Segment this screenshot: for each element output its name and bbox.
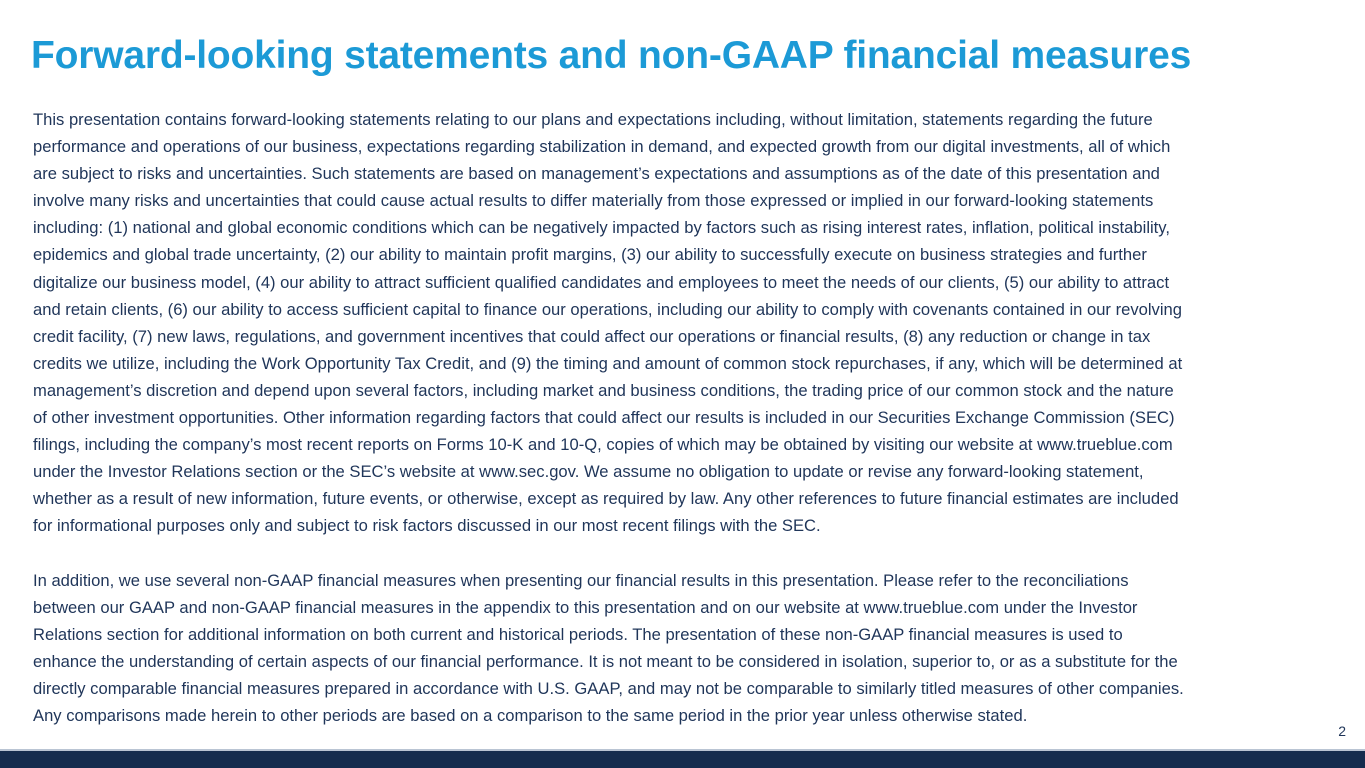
text-line: Relations section for additional informa… (33, 621, 1335, 648)
text-line: between our GAAP and non-GAAP financial … (33, 594, 1335, 621)
text-line: credits we utilize, including the Work O… (33, 350, 1335, 377)
page-title: Forward-looking statements and non-GAAP … (31, 33, 1331, 79)
text-line: are subject to risks and uncertainties. … (33, 160, 1335, 187)
text-line: filings, including the company’s most re… (33, 431, 1335, 458)
text-line: enhance the understanding of certain asp… (33, 648, 1335, 675)
text-line: Any comparisons made herein to other per… (33, 702, 1335, 729)
text-line: of other investment opportunities. Other… (33, 404, 1335, 431)
text-line: involve many risks and uncertainties tha… (33, 187, 1335, 214)
text-line: credit facility, (7) new laws, regulatio… (33, 323, 1335, 350)
presentation-slide: Forward-looking statements and non-GAAP … (0, 0, 1365, 768)
text-line: management’s discretion and depend upon … (33, 377, 1335, 404)
text-line: whether as a result of new information, … (33, 485, 1335, 512)
text-line: including: (1) national and global econo… (33, 214, 1335, 241)
text-line: under the Investor Relations section or … (33, 458, 1335, 485)
page-number: 2 (1338, 723, 1346, 739)
slide-body-content: This presentation contains forward-looki… (33, 106, 1335, 729)
text-line: epidemics and global trade uncertainty, … (33, 241, 1335, 268)
text-line: directly comparable financial measures p… (33, 675, 1335, 702)
text-line: for informational purposes only and subj… (33, 512, 1335, 539)
text-line: performance and operations of our busine… (33, 133, 1335, 160)
text-line: In addition, we use several non-GAAP fin… (33, 567, 1335, 594)
footer-bar (0, 751, 1365, 768)
forward-looking-statements-paragraph: This presentation contains forward-looki… (33, 106, 1335, 540)
text-line: digitalize our business model, (4) our a… (33, 269, 1335, 296)
non-gaap-measures-paragraph: In addition, we use several non-GAAP fin… (33, 567, 1335, 730)
text-line: This presentation contains forward-looki… (33, 106, 1335, 133)
text-line: and retain clients, (6) our ability to a… (33, 296, 1335, 323)
